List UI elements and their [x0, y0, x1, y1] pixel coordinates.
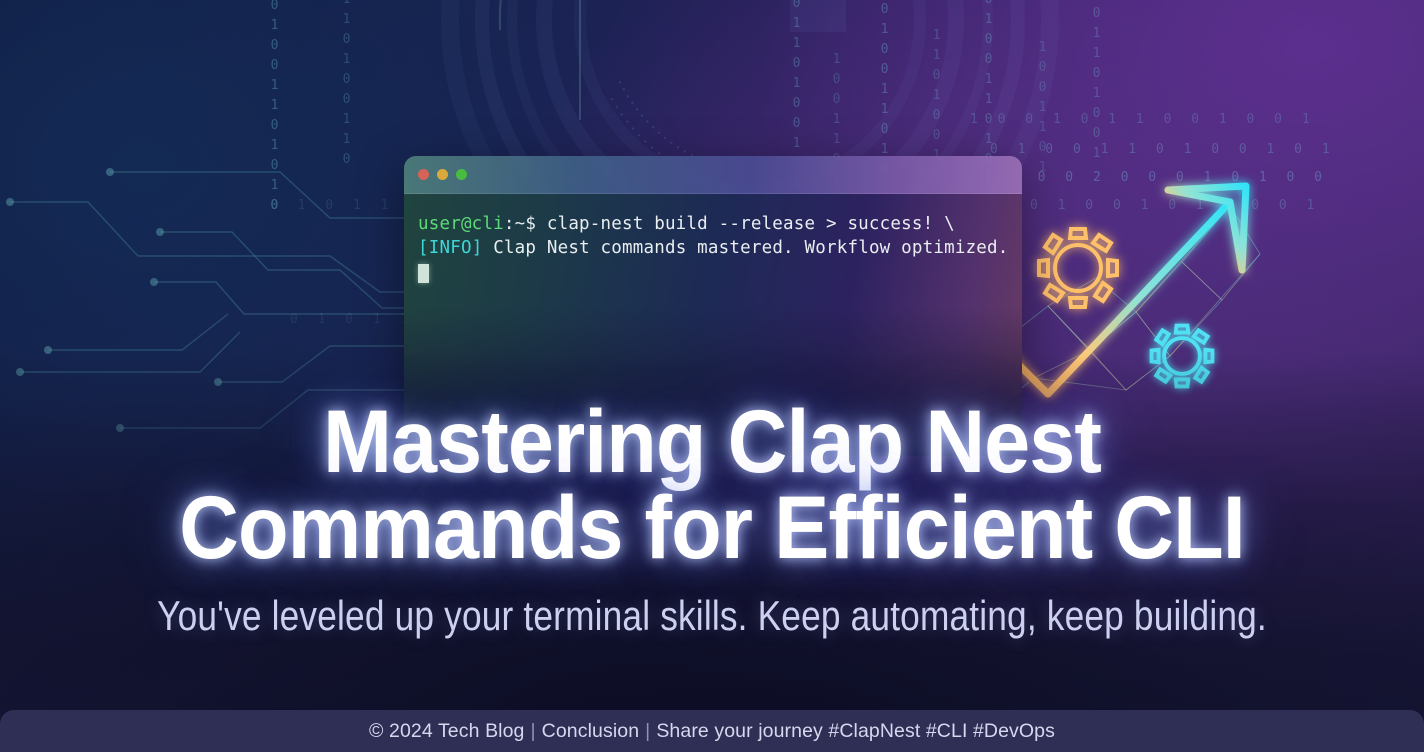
headline-line-2: Commands for Efficient CLI	[50, 484, 1374, 570]
footer-separator-1: |	[525, 720, 542, 742]
footer-cta[interactable]: Share your journey #ClapNest #CLI #DevOp…	[656, 720, 1055, 742]
footer-section[interactable]: Conclusion	[542, 720, 639, 742]
footer-text: © 2024 Tech Blog|Conclusion|Share your j…	[369, 720, 1055, 743]
banner-stage: 0100110101011010011001101001011001101001…	[0, 0, 1424, 752]
footer-bar: © 2024 Tech Blog|Conclusion|Share your j…	[0, 710, 1424, 752]
headline-line-1: Mastering Clap Nest	[323, 391, 1101, 491]
page-title: Mastering Clap Nest Commands for Efficie…	[50, 398, 1374, 570]
footer-copyright: © 2024 Tech Blog	[369, 720, 524, 742]
footer-separator-2: |	[639, 720, 656, 742]
page-subtitle: You've leveled up your terminal skills. …	[114, 592, 1310, 640]
